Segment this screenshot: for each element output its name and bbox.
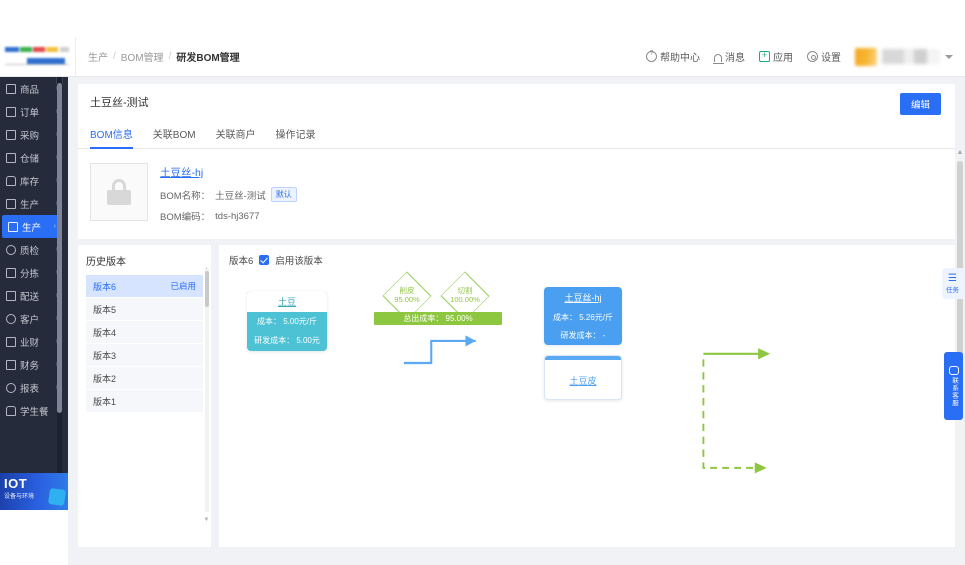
- version-scroll-thumb[interactable]: [205, 271, 209, 307]
- source-node[interactable]: 土豆 成本： 5.00元/斤 研发成本： 5.00元: [247, 291, 327, 351]
- sidebar-item-label: 生产: [22, 220, 50, 234]
- current-version-label: 版本6: [229, 253, 253, 267]
- sidebar-item-2[interactable]: 采购›: [0, 123, 62, 146]
- content-scroll-up-icon[interactable]: ▲: [956, 149, 964, 157]
- bell-icon: [714, 54, 722, 62]
- enable-version-label: 启用该版本: [275, 253, 323, 267]
- bom-name-link[interactable]: 土豆丝-hj: [160, 165, 297, 180]
- process-node-cut[interactable]: 切割 100.00%: [437, 281, 493, 311]
- bom-flow-canvas: 土豆 成本： 5.00元/斤 研发成本： 5.00元 削皮 95.00%: [219, 271, 955, 547]
- avatar: [855, 48, 877, 66]
- version-item-label: 版本4: [93, 326, 116, 339]
- sidebar-item-label: 库存: [20, 174, 52, 188]
- sidebar-item-6[interactable]: 生产›: [2, 215, 60, 238]
- bom-code-label: BOM编码：: [160, 209, 210, 223]
- sidebar-item-12[interactable]: 财务›: [0, 353, 62, 376]
- sidebar-item-label: 业财: [20, 335, 52, 349]
- lower-section: 历史版本 版本6已启用版本5版本4版本3版本2版本1 ▲ ▼ 版本6 启用该版本: [78, 245, 955, 547]
- help-center-label: 帮助中心: [660, 49, 700, 64]
- version-item-1[interactable]: 版本5: [86, 298, 203, 320]
- breadcrumb: 生产 / BOM管理 / 研发BOM管理: [88, 49, 240, 64]
- source-node-rd-cost: 研发成本： 5.00元: [247, 331, 327, 350]
- tab-1[interactable]: 关联BOM: [153, 120, 196, 148]
- version-item-5[interactable]: 版本1: [86, 390, 203, 412]
- bom-detail-card: 土豆丝-测试 编辑 BOM信息关联BOM关联商户操作记录 土豆丝-hj BOM名…: [78, 84, 955, 239]
- sidebar-item-label: 财务: [20, 358, 52, 372]
- diagram-panel: 版本6 启用该版本: [219, 245, 955, 547]
- sidebar-item-8[interactable]: 分拣›: [0, 261, 62, 284]
- sidebar-item-3[interactable]: 仓储›: [0, 146, 62, 169]
- sidebar-menu: 商品›订单›采购›仓储›库存›生产›生产›质检›分拣›配送›客户›业财›财务›报…: [0, 77, 62, 492]
- sidebar-item-14[interactable]: 学生餐: [0, 399, 62, 422]
- sidebar-item-5[interactable]: 生产›: [0, 192, 62, 215]
- question-icon: [646, 51, 657, 62]
- help-center-button[interactable]: 帮助中心: [646, 49, 700, 64]
- tab-3[interactable]: 操作记录: [276, 120, 316, 148]
- task-label: 任务: [946, 284, 959, 294]
- sidebar-item-label: 生产: [20, 197, 52, 211]
- process-node-text: 切割 100.00%: [437, 281, 493, 311]
- sidebar-item-label: 分拣: [20, 266, 52, 280]
- sidebar-item-label: 质检: [20, 243, 52, 257]
- chat-icon: [949, 366, 959, 375]
- bom-thumbnail: [90, 163, 148, 221]
- chevron-down-icon[interactable]: [945, 55, 953, 59]
- finance-icon: [6, 360, 16, 370]
- sidebar-item-label: 报表: [20, 381, 52, 395]
- total-yield-bar: 总出成率： 95.00%: [374, 312, 502, 325]
- sidebar-item-10[interactable]: 客户›: [0, 307, 62, 330]
- apps-button[interactable]: 应用: [759, 49, 793, 64]
- sidebar: ▲ 商品›订单›采购›仓储›库存›生产›生产›质检›分拣›配送›客户›业财›财务…: [0, 77, 68, 510]
- user-menu[interactable]: [855, 48, 953, 66]
- chevron-right-icon: ›: [54, 223, 56, 230]
- breadcrumb-separator: /: [113, 51, 116, 62]
- gear-icon: [807, 51, 818, 62]
- grid-icon: [6, 84, 16, 94]
- source-node-name[interactable]: 土豆: [247, 291, 327, 312]
- logo-divider: [75, 37, 76, 77]
- bom-name-label: BOM名称：: [160, 188, 210, 202]
- version-item-0[interactable]: 版本6已启用: [86, 275, 203, 297]
- tab-0[interactable]: BOM信息: [90, 120, 133, 148]
- sidebar-item-label: 仓储: [20, 151, 52, 165]
- stock-icon: [6, 176, 16, 186]
- process-rate: 95.00%: [394, 296, 419, 305]
- bom-meta: 土豆丝-hj BOM名称： 土豆丝-测试 默认 BOM编码： tds-hj367…: [160, 163, 297, 223]
- user-name-redacted: [882, 49, 940, 64]
- bom-code-value: tds-hj3677: [215, 211, 259, 222]
- breadcrumb-item-2: 研发BOM管理: [176, 49, 239, 64]
- sidebar-item-label: 商品: [20, 82, 52, 96]
- version-item-label: 版本6: [93, 280, 116, 293]
- customer-service-label: 联系客服: [949, 377, 959, 407]
- task-float-button[interactable]: ☰ 任务: [942, 268, 963, 299]
- output-node[interactable]: 土豆丝-hj 成本： 5.26元/斤 研发成本： -: [544, 287, 622, 345]
- factory-icon: [8, 222, 18, 232]
- top-bar: 生产 / BOM管理 / 研发BOM管理 帮助中心 消息 应用 设置: [0, 37, 965, 77]
- version-panel: 历史版本 版本6已启用版本5版本4版本3版本2版本1 ▲ ▼: [78, 245, 211, 547]
- settings-button[interactable]: 设置: [807, 49, 841, 64]
- sidebar-item-0[interactable]: 商品›: [0, 77, 62, 100]
- version-list: 版本6已启用版本5版本4版本3版本2版本1: [78, 275, 211, 412]
- clock-icon: [6, 383, 16, 393]
- apps-label: 应用: [773, 49, 793, 64]
- sidebar-item-9[interactable]: 配送›: [0, 284, 62, 307]
- version-item-label: 版本5: [93, 303, 116, 316]
- settings-label: 设置: [821, 49, 841, 64]
- version-panel-title: 历史版本: [78, 253, 211, 275]
- user-icon: [6, 314, 16, 324]
- version-item-2[interactable]: 版本4: [86, 321, 203, 343]
- breadcrumb-item-1[interactable]: BOM管理: [121, 49, 164, 64]
- bom-code-row: BOM编码： tds-hj3677: [160, 209, 297, 223]
- output-node-cost: 成本： 5.26元/斤: [544, 308, 622, 326]
- source-node-cost: 成本： 5.00元/斤: [247, 312, 327, 331]
- breadcrumb-separator: /: [169, 51, 172, 62]
- sidebar-item-1[interactable]: 订单›: [0, 100, 62, 123]
- customer-service-float-button[interactable]: 联系客服: [944, 352, 963, 420]
- sidebar-item-4[interactable]: 库存›: [0, 169, 62, 192]
- messages-label: 消息: [725, 49, 745, 64]
- iot-mark-icon: [48, 488, 66, 506]
- enable-version-checkbox[interactable]: [259, 255, 269, 265]
- version-item-4[interactable]: 版本2: [86, 367, 203, 389]
- version-item-status: 已启用: [170, 280, 196, 292]
- sidebar-item-label: 订单: [20, 105, 52, 119]
- sidebar-item-label: 配送: [20, 289, 52, 303]
- version-scroll-down-icon[interactable]: ▼: [203, 517, 210, 524]
- default-badge: 默认: [271, 187, 297, 202]
- qc-icon: [6, 245, 16, 255]
- iot-banner[interactable]: IOT 设备与环境: [0, 473, 68, 510]
- tab-bar: BOM信息关联BOM关联商户操作记录: [78, 120, 955, 149]
- task-icon: ☰: [948, 274, 957, 284]
- cart-icon: [6, 130, 16, 140]
- sidebar-item-11[interactable]: 业财›: [0, 330, 62, 353]
- sidebar-item-7[interactable]: 质检›: [0, 238, 62, 261]
- page-title: 土豆丝-测试: [90, 94, 943, 110]
- breadcrumb-item-0[interactable]: 生产: [88, 49, 108, 64]
- bom-name-value: 土豆丝-测试: [215, 188, 266, 202]
- process-rate: 100.00%: [450, 296, 480, 305]
- messages-button[interactable]: 消息: [714, 49, 745, 64]
- sidebar-item-label: 客户: [20, 312, 52, 326]
- card-header: 土豆丝-测试 编辑: [78, 84, 955, 110]
- tab-2[interactable]: 关联商户: [216, 120, 256, 148]
- version-item-label: 版本1: [93, 395, 116, 408]
- app-root: 生产 / BOM管理 / 研发BOM管理 帮助中心 消息 应用 设置: [0, 0, 965, 565]
- meal-icon: [6, 406, 16, 416]
- logo-image: [5, 44, 71, 70]
- sidebar-item-13[interactable]: 报表›: [0, 376, 62, 399]
- version-item-label: 版本3: [93, 349, 116, 362]
- diagram-header: 版本6 启用该版本: [229, 253, 945, 267]
- process-node-peel[interactable]: 削皮 95.00%: [379, 281, 435, 311]
- truck-icon: [6, 291, 16, 301]
- sidebar-item-label: 学生餐: [20, 404, 54, 418]
- sidebar-item-label: 采购: [20, 128, 52, 142]
- byproduct-node[interactable]: 土豆皮: [544, 355, 622, 400]
- warehouse-icon: [6, 153, 16, 163]
- order-icon: [6, 107, 16, 117]
- version-item-3[interactable]: 版本3: [86, 344, 203, 366]
- sort-icon: [6, 268, 16, 278]
- sidebar-vertical-thumb[interactable]: [57, 83, 62, 413]
- main-content: 土豆丝-测试 编辑 BOM信息关联BOM关联商户操作记录 土豆丝-hj BOM名…: [68, 77, 965, 565]
- version-item-label: 版本2: [93, 372, 116, 385]
- output-node-name[interactable]: 土豆丝-hj: [544, 287, 622, 308]
- top-bar-actions: 帮助中心 消息 应用 设置: [646, 48, 965, 66]
- apps-icon: [759, 51, 770, 62]
- process-node-text: 削皮 95.00%: [379, 281, 435, 311]
- byproduct-node-name[interactable]: 土豆皮: [545, 360, 621, 400]
- edit-button[interactable]: 编辑: [900, 93, 941, 115]
- chart-icon: [6, 337, 16, 347]
- output-node-rd-cost: 研发成本： -: [544, 326, 622, 344]
- factory-icon: [6, 199, 16, 209]
- bom-name-row: BOM名称： 土豆丝-测试 默认: [160, 187, 297, 202]
- app-logo[interactable]: [0, 37, 75, 77]
- lock-icon: [107, 179, 131, 205]
- bom-info-section: 土豆丝-hj BOM名称： 土豆丝-测试 默认 BOM编码： tds-hj367…: [78, 149, 955, 239]
